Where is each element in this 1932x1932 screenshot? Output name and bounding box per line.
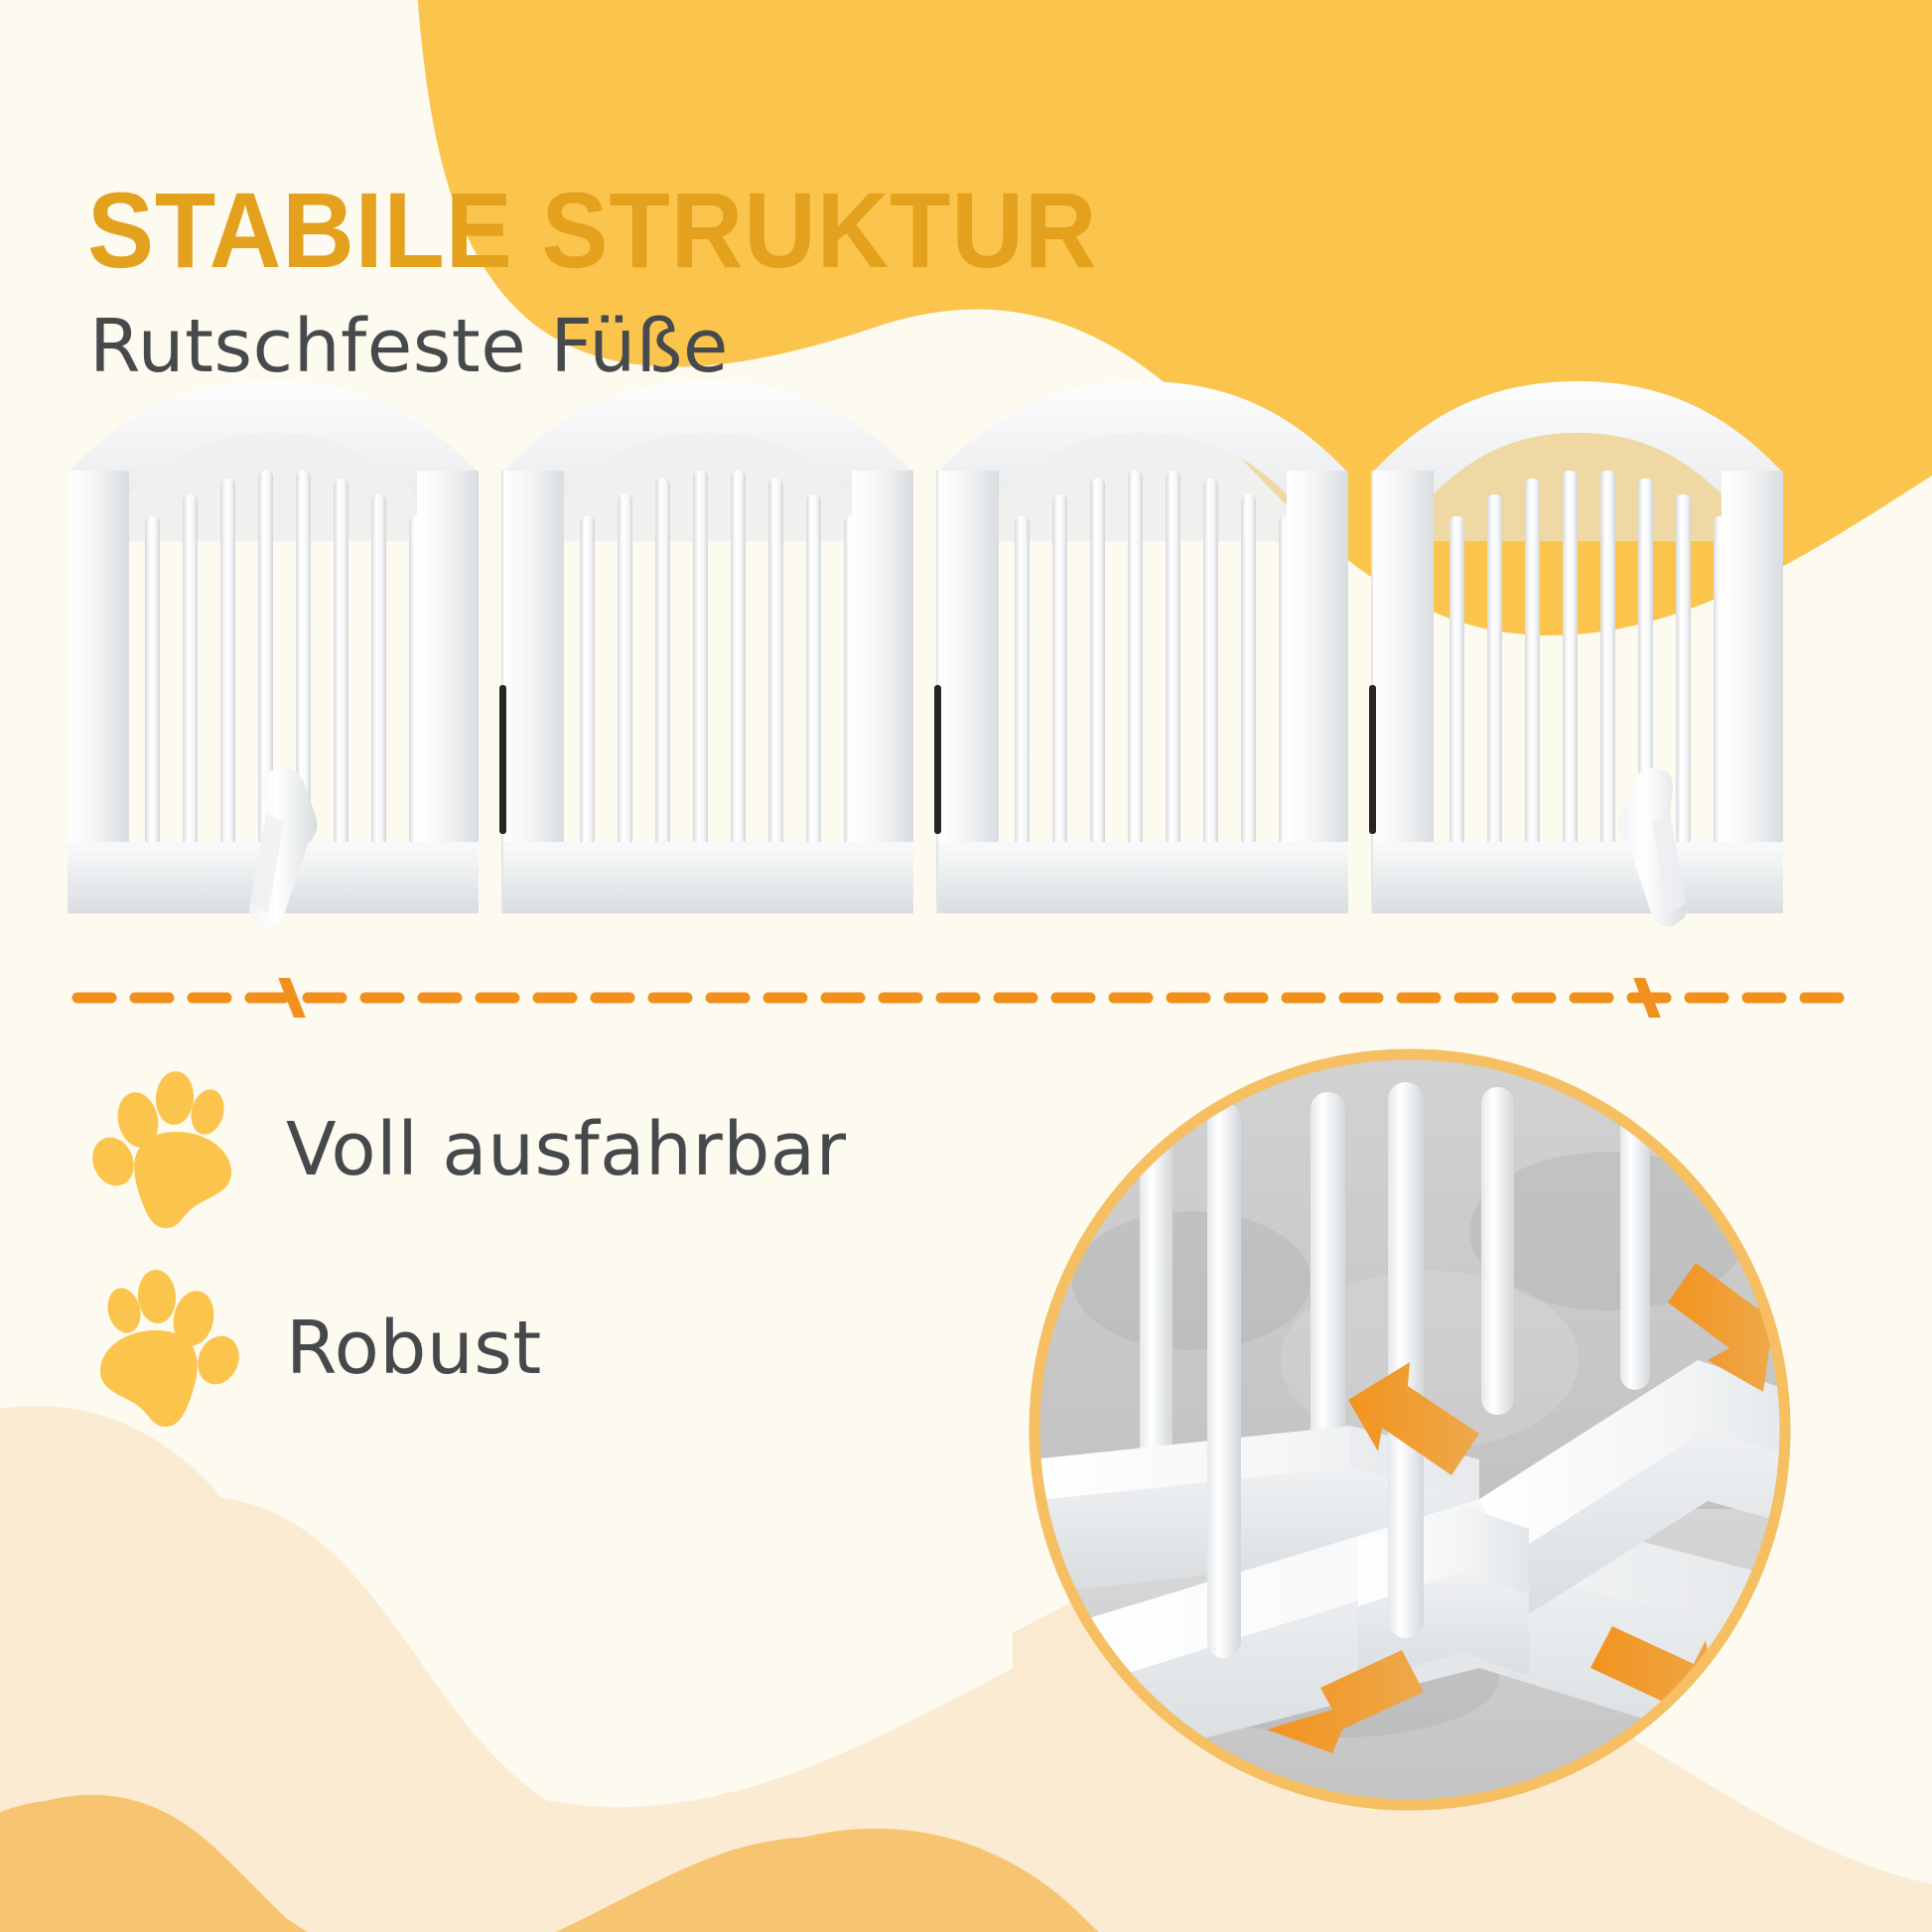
gate-panel-4 [1372, 381, 1783, 913]
product-gate-illustration [0, 328, 1932, 973]
gate-panel-3 [937, 381, 1348, 913]
gate-panel-2 [502, 381, 913, 913]
bottom-left-golden-wave [0, 1795, 417, 1932]
feature-item-robust: Robust [91, 1269, 542, 1428]
bottom-left-beige-wave-upper [0, 1406, 1052, 1932]
paw-icon [91, 1070, 240, 1229]
non-slip-foot-closeup [1013, 1033, 1807, 1827]
gate-hinge-3 [1369, 685, 1376, 834]
floor-reference-line [0, 978, 1932, 1018]
bottom-left-gold-mass [0, 1800, 1033, 1932]
feature-label: Voll ausfahrbar [286, 1113, 847, 1186]
page-title: STABILE STRUKTUR [87, 177, 1097, 284]
bottom-left-golden-wave-main [0, 1807, 1181, 1932]
feature-label: Robust [286, 1311, 542, 1385]
gate-hinge-1 [499, 685, 506, 834]
paw-icon [91, 1269, 240, 1428]
infographic-canvas: STABILE STRUKTUR Rutschfeste Füße [0, 0, 1932, 1932]
feature-item-voll-ausfahrbar: Voll ausfahrbar [91, 1070, 847, 1229]
gate-hinge-2 [934, 685, 941, 834]
